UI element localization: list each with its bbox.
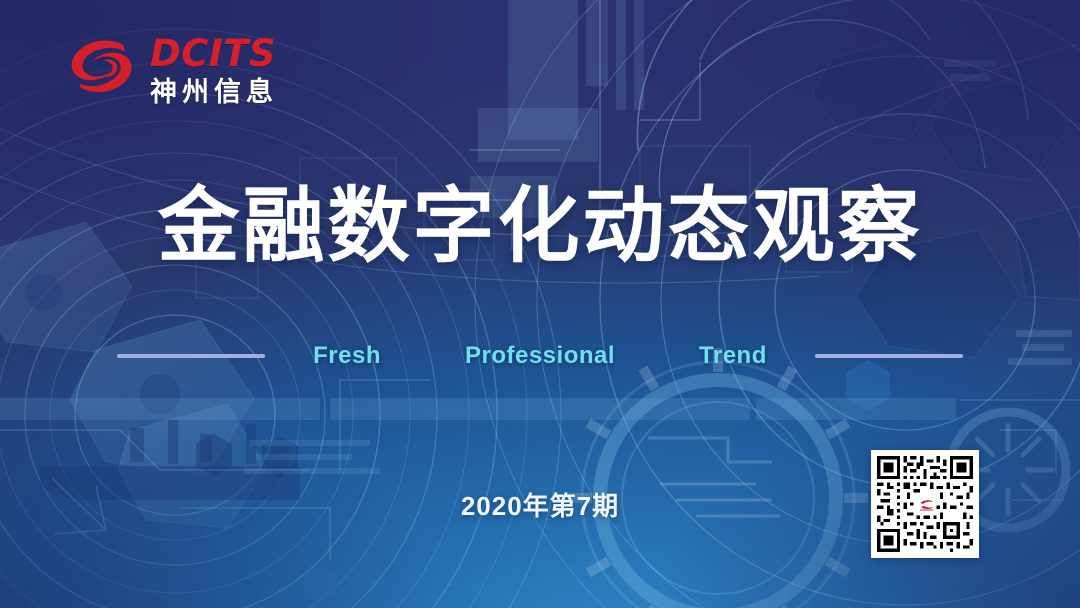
tagline-word-professional: Professional	[465, 342, 615, 370]
qr-code[interactable]	[871, 450, 979, 558]
tagline-row: Fresh Professional Trend	[0, 340, 1080, 372]
tagline-word-fresh: Fresh	[313, 342, 381, 370]
tagline-word-trend: Trend	[699, 342, 767, 370]
logo-english-text: DCITS	[150, 35, 278, 72]
poster-slide: DCITS 神州信息 金融数字化动态观察 Fresh Professional …	[0, 0, 1080, 608]
dcits-swirl-logo-icon	[64, 30, 140, 106]
logo-chinese-text: 神州信息	[150, 79, 278, 106]
page-title: 金融数字化动态观察	[0, 186, 1080, 268]
tagline-words: Fresh Professional Trend	[313, 342, 767, 370]
brand-logo[interactable]: DCITS 神州信息	[64, 30, 278, 106]
qr-code-image	[877, 456, 973, 552]
tagline-rule-left	[117, 354, 265, 358]
tagline-rule-right	[815, 354, 963, 358]
qr-center-logo	[913, 492, 936, 515]
